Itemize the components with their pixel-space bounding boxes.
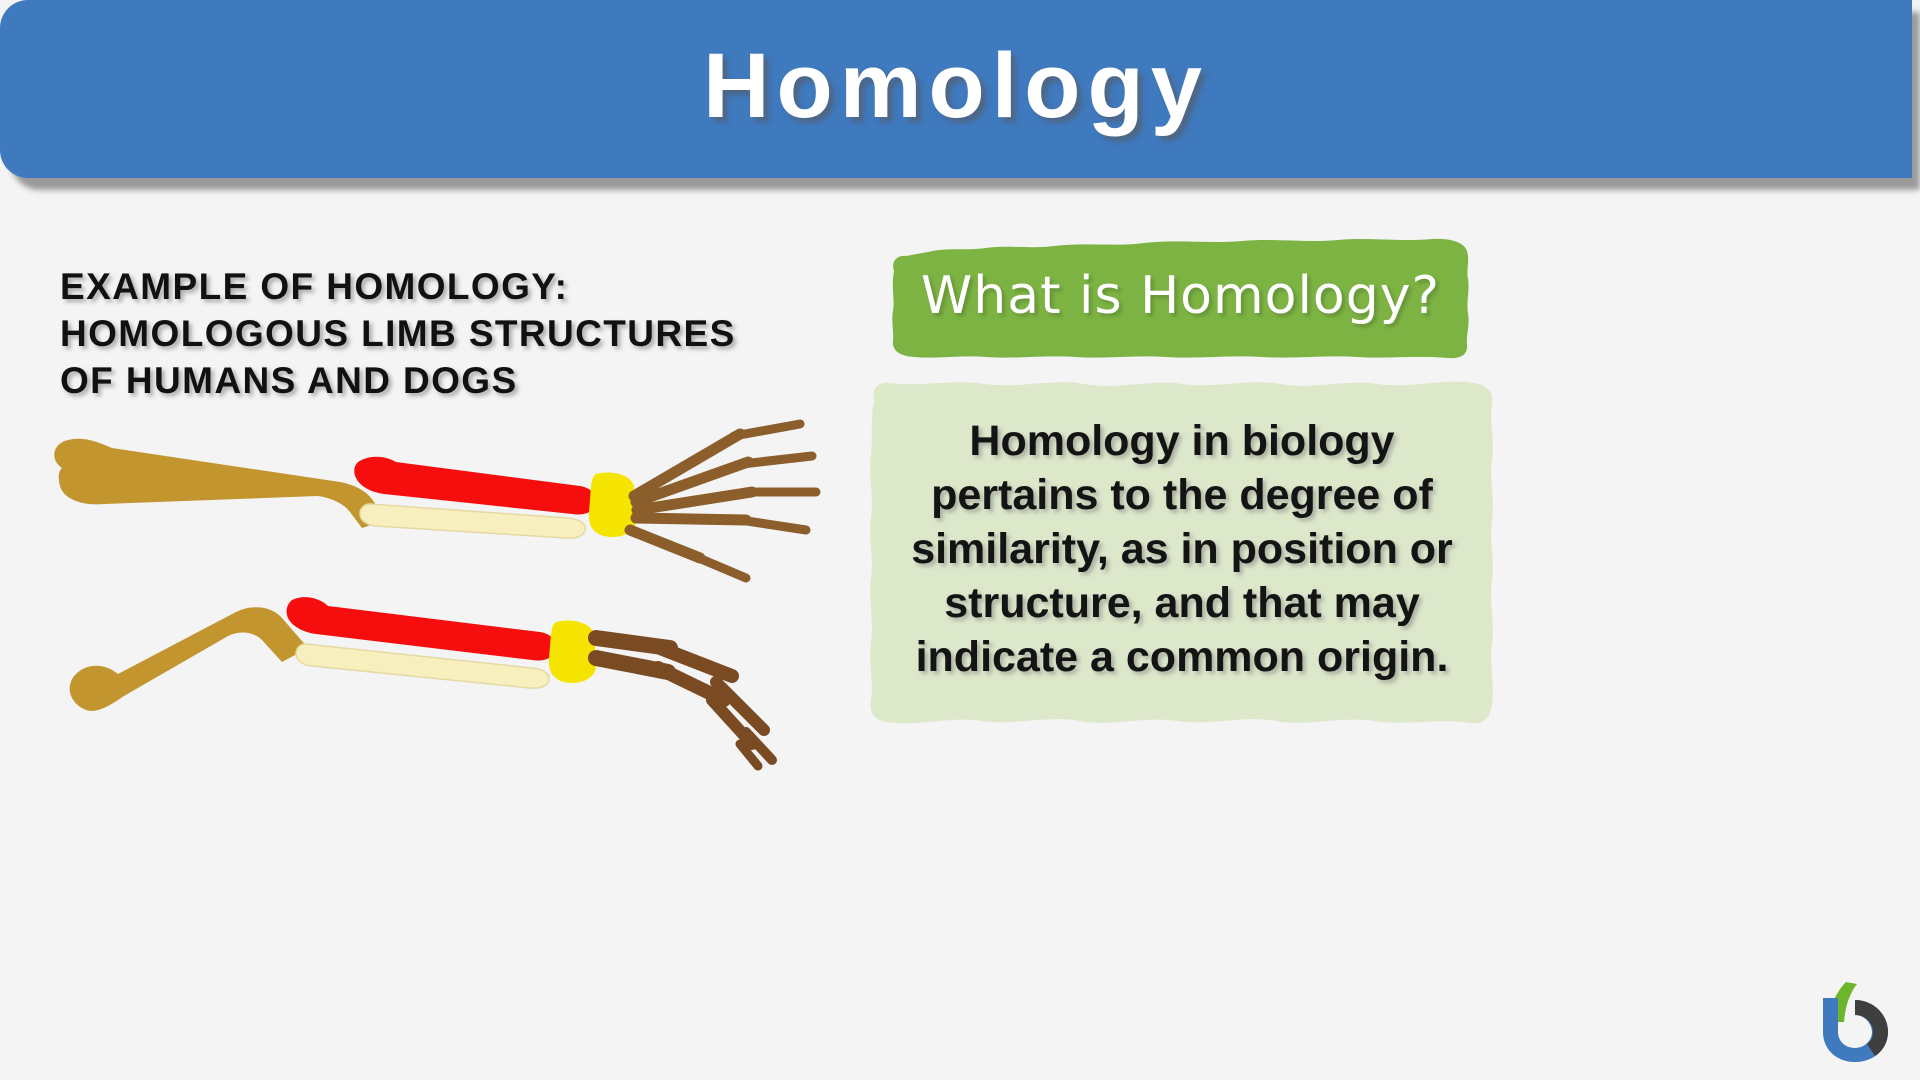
example-heading: Example of Homology: Homologous limb str… xyxy=(60,263,900,404)
page-header: Homology xyxy=(0,0,1920,192)
header-banner: Homology xyxy=(0,0,1912,178)
what-is-homology-banner: What is Homology? xyxy=(888,237,1473,360)
example-heading-line-1: Example of Homology: xyxy=(60,263,900,310)
dog-carpals xyxy=(549,621,596,684)
example-heading-line-3: of humans and dogs xyxy=(60,357,900,404)
dog-foreleg-limb xyxy=(70,597,772,766)
human-arm-limb xyxy=(54,424,816,578)
example-heading-line-2: Homologous limb structures xyxy=(60,310,900,357)
dog-humerus-bone xyxy=(70,607,308,711)
human-humerus-bone xyxy=(54,439,386,528)
page-title: Homology xyxy=(703,40,1209,132)
definition-text: Homology in biology pertains to the degr… xyxy=(866,375,1498,729)
human-phalanges xyxy=(630,424,816,578)
biology-online-logo[interactable] xyxy=(1816,978,1894,1062)
homologous-limb-diagram xyxy=(40,400,860,790)
banner-title: What is Homology? xyxy=(888,237,1473,360)
dog-phalanges xyxy=(596,638,772,766)
definition-box: Homology in biology pertains to the degr… xyxy=(866,375,1498,729)
